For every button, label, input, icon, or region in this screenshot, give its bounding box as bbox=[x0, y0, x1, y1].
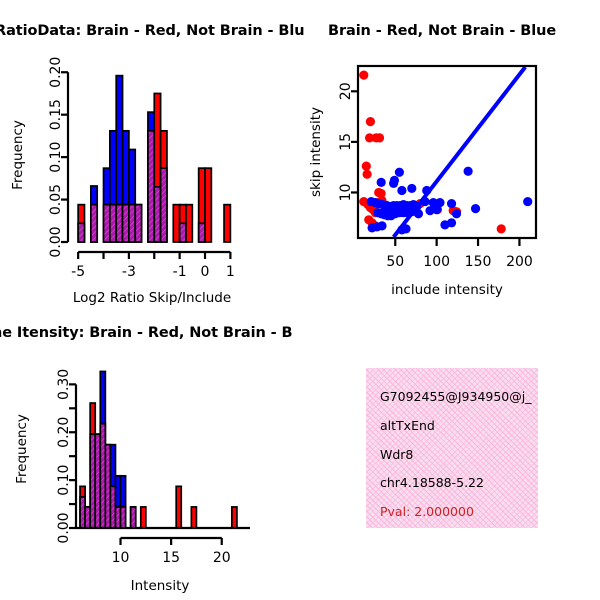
intensity-histogram-plot: 0.000.100.200.30101520IntensityFrequency bbox=[0, 310, 300, 600]
scatter-point-blue bbox=[404, 202, 413, 211]
histogram-bar-overlap bbox=[110, 205, 116, 242]
x-tick-label: -1 bbox=[173, 264, 187, 280]
histogram-bar-overlap bbox=[161, 168, 167, 242]
y-tick-label: 0.20 bbox=[56, 417, 72, 448]
scatter-inner bbox=[359, 67, 532, 237]
x-tick-label: 0 bbox=[201, 264, 210, 280]
scatter-point-blue bbox=[422, 186, 431, 195]
scatter-point-blue bbox=[377, 221, 386, 230]
histogram-bar-overlap bbox=[78, 223, 84, 242]
scatter-point-blue bbox=[432, 205, 441, 214]
y-tick-label: 0.00 bbox=[48, 226, 64, 257]
histogram-bar bbox=[205, 168, 211, 242]
y-tick-label: 0.30 bbox=[56, 369, 72, 400]
scatter-point-red bbox=[366, 117, 375, 126]
y-tick-label: 20 bbox=[338, 82, 354, 100]
x-tick-label: -5 bbox=[71, 264, 85, 280]
info-line-locus: chr4.18588-5.22 bbox=[380, 476, 538, 490]
intensity-scatter-panel: Brain - Red, Not Brain - Blue 1015205010… bbox=[300, 0, 600, 310]
y-tick-label: 0.15 bbox=[48, 99, 64, 130]
y-tick-label: 15 bbox=[338, 133, 354, 151]
ratio-histogram-panel: RatioData: Brain - Red, Not Brain - Blu … bbox=[0, 0, 300, 310]
scatter-point-blue bbox=[401, 224, 410, 233]
scatter-point-blue bbox=[377, 178, 386, 187]
y-tick-label: 0.00 bbox=[56, 512, 72, 543]
scatter-point-blue bbox=[420, 197, 429, 206]
ratio-y-axis: 0.000.050.100.150.20 bbox=[48, 57, 68, 258]
histogram-bar-overlap bbox=[131, 507, 136, 528]
x-tick-label: 1 bbox=[226, 264, 235, 280]
scatter-point-blue bbox=[407, 184, 416, 193]
y-tick-label: 10 bbox=[338, 184, 354, 202]
histogram-bar-overlap bbox=[129, 205, 135, 242]
histogram-bar-overlap bbox=[180, 223, 186, 242]
x-tick-label: 10 bbox=[112, 550, 130, 566]
scatter-x-axis: 50100150200 bbox=[386, 238, 532, 270]
histogram-bar bbox=[173, 205, 179, 242]
y-tick-label: 0.10 bbox=[56, 465, 72, 496]
x-tick-label: 100 bbox=[423, 254, 450, 270]
info-box-lines: G7092455@J934950@j_ altTxEnd Wdr8 chr4.1… bbox=[366, 368, 538, 519]
scatter-point-blue bbox=[452, 209, 461, 218]
histogram-bar-overlap bbox=[135, 205, 141, 242]
histogram-bar-overlap bbox=[91, 205, 97, 242]
x-tick-label: 200 bbox=[506, 254, 533, 270]
scatter-y-axis: 101520 bbox=[338, 82, 358, 201]
scatter-point-blue bbox=[397, 186, 406, 195]
intensity-histogram-panel: ne Itensity: Brain - Red, Not Brain - B … bbox=[0, 300, 300, 600]
histogram-bar-overlap bbox=[116, 205, 122, 242]
scatter-point-blue bbox=[464, 167, 473, 176]
intensity-y-axis: 0.000.100.200.30 bbox=[56, 369, 76, 544]
y-tick-label: 0.10 bbox=[48, 142, 64, 173]
scatter-point-red bbox=[497, 224, 506, 233]
intensity-bars bbox=[80, 371, 237, 528]
histogram-bar bbox=[232, 507, 237, 528]
scatter-point-blue bbox=[447, 199, 456, 208]
histogram-bar bbox=[224, 205, 230, 242]
x-tick-label: 15 bbox=[162, 550, 180, 566]
histogram-bar bbox=[141, 507, 146, 528]
histogram-bar bbox=[186, 205, 192, 242]
histogram-bar-overlap bbox=[148, 131, 154, 242]
scatter-point-blue bbox=[447, 218, 456, 227]
info-line-event-id: G7092455@J934950@j_ bbox=[380, 390, 538, 404]
histogram-bar bbox=[191, 507, 196, 528]
scatter-point-red bbox=[375, 133, 384, 142]
y-axis-label: Frequency bbox=[10, 120, 26, 190]
histogram-bar-overlap bbox=[199, 223, 205, 242]
intensity-x-axis: 101520 bbox=[112, 538, 231, 566]
scatter-point-blue bbox=[395, 168, 404, 177]
y-tick-label: 0.20 bbox=[48, 57, 64, 88]
histogram-bar bbox=[176, 486, 181, 528]
y-axis-label: skip intensity bbox=[308, 107, 324, 197]
info-line-pval: Pval: 2.000000 bbox=[380, 505, 538, 519]
x-axis-label: Intensity bbox=[131, 578, 190, 594]
y-tick-label: 0.05 bbox=[48, 184, 64, 215]
x-tick-label: -3 bbox=[122, 264, 136, 280]
y-axis-label: Frequency bbox=[14, 414, 30, 484]
gene-info-box: G7092455@J934950@j_ altTxEnd Wdr8 chr4.1… bbox=[366, 368, 538, 528]
annotation-panel: G7092455@J934950@j_ altTxEnd Wdr8 chr4.1… bbox=[300, 300, 600, 600]
scatter-point-red bbox=[362, 162, 371, 171]
scatter-point-blue bbox=[471, 204, 480, 213]
scatter-point-blue bbox=[414, 209, 423, 218]
info-line-gene-symbol: Wdr8 bbox=[380, 448, 538, 462]
x-tick-label: 20 bbox=[213, 550, 231, 566]
x-tick-label: 150 bbox=[465, 254, 492, 270]
intensity-scatter-plot: 10152050100150200include intensityskip i… bbox=[300, 10, 600, 310]
histogram-bar-overlap bbox=[123, 205, 129, 242]
histogram-bar-overlap bbox=[121, 507, 126, 528]
x-tick-label: 50 bbox=[386, 254, 404, 270]
scatter-point-blue bbox=[523, 197, 532, 206]
ratio-x-axis: -5-3-101 bbox=[71, 252, 235, 280]
histogram-bar-overlap bbox=[154, 187, 160, 242]
ratio-histogram-plot: 0.000.050.100.150.20-5-3-101Log2 Ratio S… bbox=[0, 10, 300, 310]
info-line-event-type: altTxEnd bbox=[380, 419, 538, 433]
histogram-bar-overlap bbox=[104, 205, 110, 242]
scatter-point-blue bbox=[389, 179, 398, 188]
scatter-point-blue bbox=[381, 205, 390, 214]
x-axis-label: include intensity bbox=[391, 282, 503, 298]
scatter-point-red bbox=[359, 71, 368, 80]
ratio-bars bbox=[78, 76, 230, 242]
scatter-point-red bbox=[363, 170, 372, 179]
